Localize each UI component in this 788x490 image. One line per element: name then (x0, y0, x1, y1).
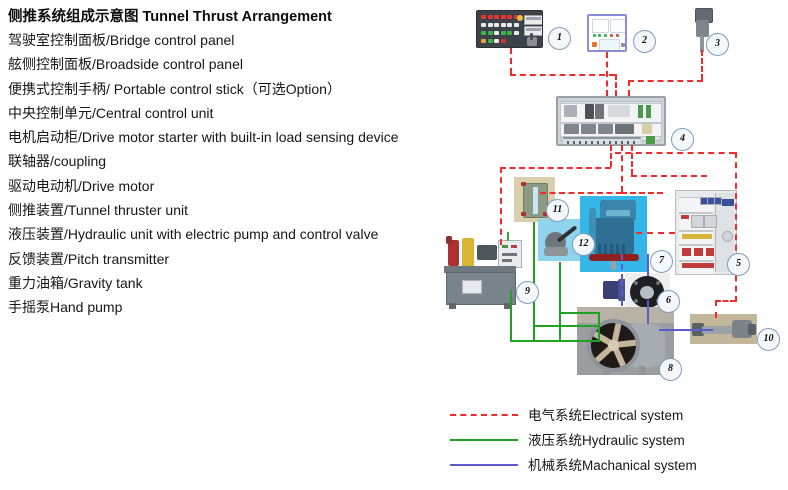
thruster-support-left (603, 369, 610, 375)
legend-line-6: 联轴器/coupling (8, 149, 460, 173)
panel1-joystick[interactable] (527, 37, 537, 46)
callout-10: 10 (757, 328, 780, 351)
panel2-lamp-green-1 (593, 34, 596, 37)
bridge-control-panel[interactable] (476, 10, 543, 48)
panel2-lamp-red-2 (616, 34, 619, 37)
wire-electrical-motor-spur (621, 192, 663, 194)
wire-hydraulic-thruster-riser (598, 312, 600, 342)
wire-hydraulic-pump-to-thruster (559, 312, 598, 314)
ccu-module-psu (564, 105, 577, 117)
propeller-hub (608, 340, 619, 351)
ccu-contactor-3 (598, 124, 613, 134)
wire-electrical-to-left-branch (500, 167, 611, 169)
wire-electrical-right-trunk (735, 152, 737, 302)
wire-hydraulic-hpu-to-thruster (510, 340, 598, 342)
gearbox-body (603, 281, 619, 299)
starter-relay-red-1 (682, 248, 691, 256)
ccu-transformer (642, 124, 652, 134)
panel2-lamp-red-1 (610, 34, 613, 37)
wire-electrical-bus-left-down (615, 74, 617, 96)
thruster-support-right (639, 366, 646, 375)
ccu-module-plc-1 (585, 104, 594, 119)
wire-electrical-gravity-tank-spur (540, 192, 622, 194)
hpu-leg-left (449, 303, 456, 309)
component-legend-list: 侧推系统组成示意图 Tunnel Thrust Arrangement 驾驶室控… (8, 6, 460, 320)
wire-electrical-left-branch-down (500, 167, 502, 245)
wire-hydraulic-hpu-down (510, 290, 512, 340)
starter-door-lamp (722, 231, 733, 242)
hpu-filter-cap-red (446, 236, 452, 244)
callout-5: 5 (727, 253, 750, 276)
wire-electrical-ccu-out-c (631, 145, 633, 175)
system-diagram: 1 2 3 (435, 0, 788, 400)
legend-line-7: 驱动电动机/Drive motor (8, 174, 460, 198)
legend-line-9: 液压装置/Hydraulic unit with electric pump a… (8, 222, 460, 246)
wire-mechanical-motor-shaft (621, 254, 623, 280)
panel1-button-row-green[interactable] (481, 31, 519, 35)
panel2-display-right (610, 19, 627, 33)
motor-mounting-flange (589, 254, 639, 261)
stick-body (696, 20, 709, 37)
gravity-tank-sight-glass (532, 186, 539, 215)
ccu-module-relay-bank (608, 105, 630, 117)
panel1-button-row-mixed[interactable] (481, 39, 506, 43)
coupling-hub (640, 286, 654, 299)
hydraulic-label: 液压系统Hydraulic system (528, 429, 685, 449)
central-control-unit[interactable] (556, 96, 666, 146)
wire-electrical-panel3-left (628, 80, 703, 82)
panel1-button-row-white[interactable] (481, 23, 519, 27)
wire-hydraulic-tank-to-thruster (533, 325, 598, 327)
wire-electrical-ccu-out-a (610, 145, 612, 167)
coupling-bolt-2 (656, 281, 660, 285)
legend-line-3: 便携式控制手柄/ Portable control stick（可选Option… (8, 77, 460, 101)
mechanical-line-swatch (450, 464, 518, 466)
drive-motor[interactable] (580, 196, 647, 272)
callout-12: 12 (572, 233, 595, 256)
coupling-bolt-3 (634, 299, 638, 303)
wire-hydraulic-handpump-down (559, 262, 561, 340)
callout-1: 1 (548, 27, 571, 50)
coupling-bolt-1 (634, 281, 638, 285)
wire-mechanical-coupling-to-thruster (647, 300, 649, 324)
legend-line-4: 中央控制单元/Central control unit (8, 101, 460, 125)
callout-2: 2 (633, 30, 656, 53)
mechanical-label: 机械系统Machanical system (528, 454, 697, 474)
wire-electrical-panel3-down (701, 50, 703, 80)
wire-hydraulic-gravity-tank-down (533, 222, 535, 340)
starter-busbar-red-1 (681, 215, 689, 219)
panel1-indicator-lamp (517, 15, 523, 21)
electrical-line-swatch (450, 414, 518, 416)
legend-line-12: 手摇泵Hand pump (8, 295, 460, 319)
starter-contactor-2 (704, 215, 717, 228)
panel1-display-lower (524, 26, 543, 36)
callout-3: 3 (706, 33, 729, 56)
callout-9: 9 (516, 281, 539, 304)
starter-relay-red-2 (694, 248, 703, 256)
ccu-module-plc-2 (595, 104, 604, 119)
starter-busbar-yellow (682, 234, 712, 239)
motor-vent-grille (606, 210, 630, 216)
callout-4: 4 (671, 128, 694, 151)
key-row-hydraulic: 液压系统Hydraulic system (450, 428, 788, 453)
legend-line-8: 侧推装置/Tunnel thruster unit (8, 198, 460, 222)
legend-line-1: 驾驶室控制面板/Bridge control panel (8, 28, 460, 52)
wire-mechanical-motor-to-coupling (647, 254, 649, 276)
callout-8: 8 (659, 358, 682, 381)
ccu-green-terminal (646, 136, 655, 144)
panel1-button-row-red[interactable] (481, 15, 519, 19)
panel2-lamp-green-2 (598, 34, 601, 37)
legend-line-11: 重力油箱/Gravity tank (8, 271, 460, 295)
wire-electrical-panel1-down (510, 48, 512, 74)
wire-electrical-top-right-run (615, 152, 735, 154)
diagram-page: 侧推系统组成示意图 Tunnel Thrust Arrangement 驾驶室控… (0, 0, 788, 490)
hpu-filter-yellow (462, 238, 474, 268)
starter-contactor-1 (691, 215, 704, 228)
panel2-lamp-orange (592, 42, 597, 47)
starter-relay-red-3 (706, 248, 714, 256)
callout-6: 6 (657, 290, 680, 313)
pitch-end-right (748, 324, 756, 335)
callout-11: 11 (546, 199, 569, 222)
ccu-module-green-1 (638, 105, 643, 118)
starter-breaker-blue-3 (714, 197, 722, 205)
legend-line-5: 电机启动柜/Drive motor starter with built-in … (8, 125, 460, 149)
callout-7: 7 (650, 250, 673, 273)
gravity-tank-valve-top (521, 182, 526, 186)
hpu-antenna (507, 232, 509, 241)
ccu-module-green-2 (646, 105, 651, 118)
ccu-contactor-2 (581, 124, 596, 134)
wire-electrical-bus-right-down (628, 80, 630, 96)
starter-busbar-red-2 (682, 263, 714, 268)
hydraulic-line-swatch (450, 439, 518, 441)
panel2-display-left (592, 19, 609, 33)
wire-electrical-motor7-to-starter (636, 232, 675, 234)
panel2-control-pad[interactable] (599, 39, 620, 52)
wire-mechanical-motor-to-gearbox (621, 280, 623, 306)
ccu-contactor-4 (615, 124, 634, 134)
wire-electrical-to-right-branch (631, 175, 707, 177)
legend-line-2: 舷侧控制面板/Broadside control panel (8, 52, 460, 76)
hand-pump-base (544, 247, 568, 256)
key-row-electrical: 电气系统Electrical system (450, 403, 788, 428)
wire-electrical-panel2-down (606, 52, 608, 96)
wire-mechanical-thruster-to-pitch (659, 329, 713, 331)
gravity-tank-valve-bottom (521, 212, 526, 216)
panel1-display-upper (524, 15, 543, 25)
hpu-pump-motor (477, 245, 497, 260)
broadside-control-panel[interactable] (587, 14, 627, 52)
starter-door-switch[interactable] (722, 199, 734, 206)
ccu-terminal-strip (563, 137, 641, 146)
wire-electrical-pitch-jog (715, 300, 736, 302)
system-type-key: 电气系统Electrical system 液压系统Hydraulic syst… (450, 403, 788, 478)
motor-output-shaft (611, 261, 616, 270)
ccu-contactor-1 (564, 124, 579, 134)
hydraulic-unit[interactable] (440, 232, 525, 310)
legend-line-10: 反馈装置/Pitch transmitter (8, 247, 460, 271)
key-row-mechanical: 机械系统Machanical system (450, 453, 788, 478)
wire-electrical-to-pitch-transmitter (715, 300, 717, 318)
wire-electrical-panel1-right (510, 74, 615, 76)
panel2-knob[interactable] (621, 43, 625, 47)
hpu-nameplate (462, 280, 482, 294)
electrical-label: 电气系统Electrical system (528, 404, 683, 424)
page-title: 侧推系统组成示意图 Tunnel Thrust Arrangement (8, 6, 460, 28)
panel2-lamp-green-3 (604, 34, 607, 37)
